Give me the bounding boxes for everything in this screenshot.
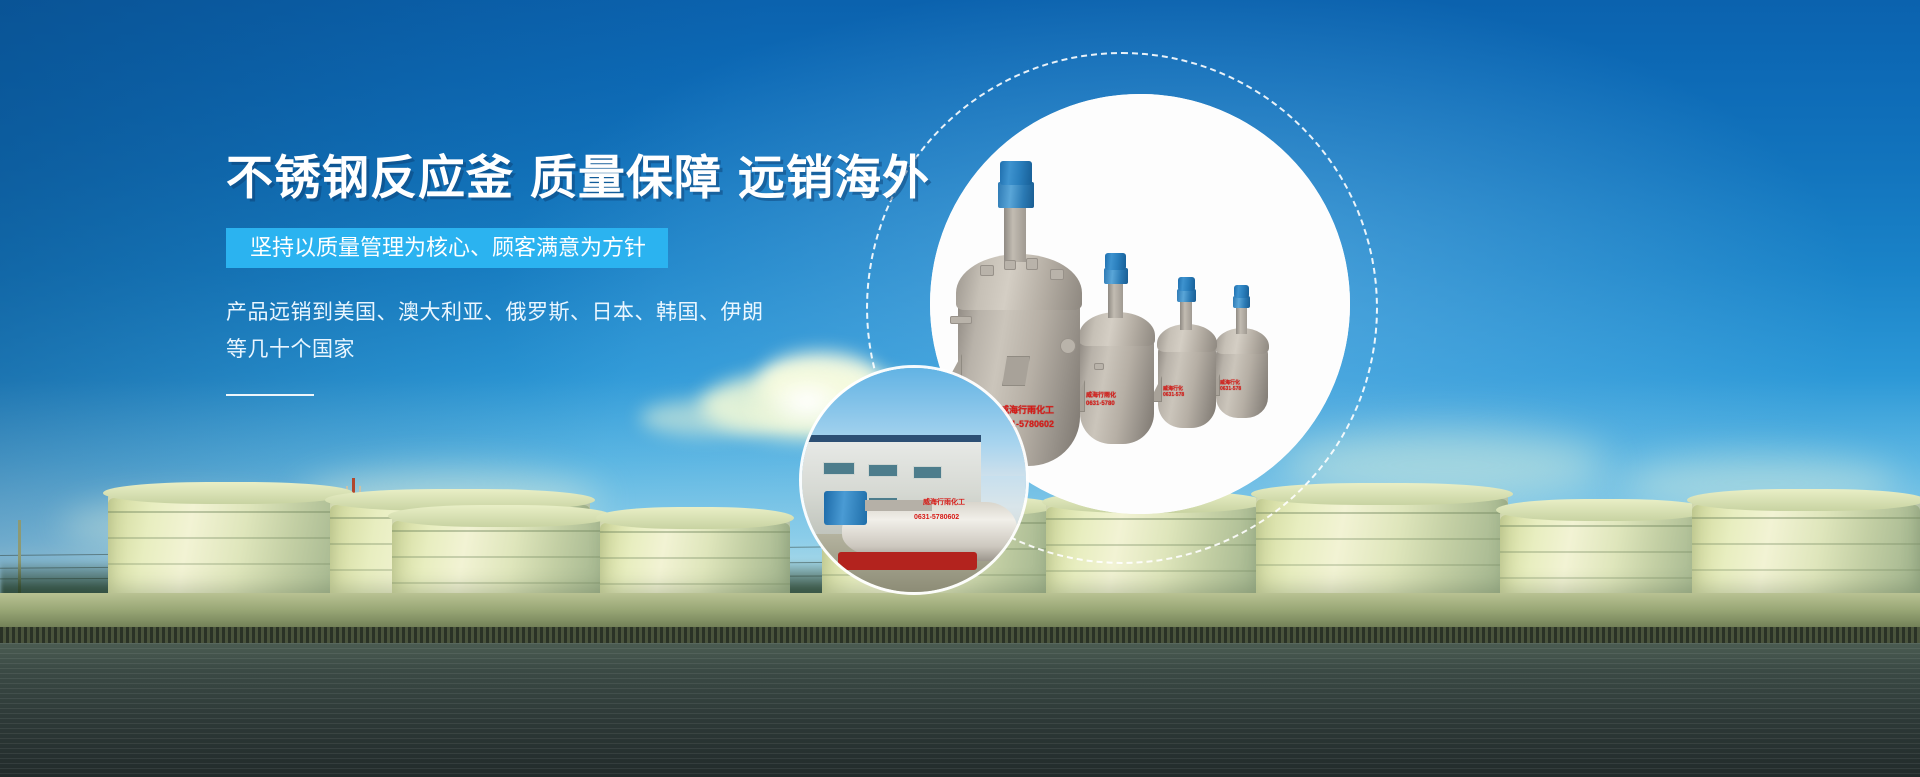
- hero-banner: 威海行化0631-578 威海行化0631-578: [0, 0, 1920, 777]
- building-window: [913, 466, 941, 479]
- storage-tank: [600, 517, 790, 597]
- quay-wall: [0, 593, 1920, 629]
- reactor-manhole: [1060, 338, 1076, 354]
- description-line-1: 产品远销到美国、澳大利亚、俄罗斯、日本、韩国、伊朗: [226, 294, 1006, 331]
- harbor-water: [0, 643, 1920, 777]
- truck-chassis: [838, 552, 977, 570]
- building-window: [868, 464, 898, 477]
- reactor-body: [1080, 334, 1154, 444]
- storage-tank: [1500, 509, 1706, 597]
- subtitle-highlight-bar: 坚持以质量管理为核心、顾客满意为方针: [226, 228, 668, 268]
- description-text: 产品远销到美国、澳大利亚、俄罗斯、日本、韩国、伊朗 等几十个国家: [226, 294, 1006, 368]
- factory-photo-circle[interactable]: 威海行雨化工 0631-5780602: [802, 368, 1026, 592]
- factory-watermark-phone: 0631-5780602: [914, 513, 959, 522]
- reactor-unit: 威海行雨化0631-5780: [1080, 256, 1154, 444]
- headline-segment-2: 质量保障: [530, 151, 722, 204]
- reactor-unit: 威海行化0631-578: [1216, 286, 1268, 418]
- building-window: [823, 462, 855, 475]
- reactor-nozzle: [1094, 363, 1104, 370]
- product-watermark: 威海行化0631-578: [1163, 386, 1184, 399]
- tanker-motor: [824, 491, 867, 525]
- reactor-neck: [1004, 200, 1026, 262]
- product-watermark: 威海行雨化0631-5780: [1086, 393, 1116, 408]
- reactor-nozzle: [1050, 269, 1064, 280]
- reactor-gearbox: [1104, 268, 1128, 284]
- factory-watermark-company: 威海行雨化工: [923, 498, 965, 507]
- reactor-motor: [1178, 277, 1195, 291]
- reactor-unit: 威海行化0631-578: [1158, 278, 1216, 428]
- reactor-neck: [1108, 280, 1123, 318]
- headline-segment-3: 远销海外: [738, 151, 930, 204]
- page-title: 不锈钢反应釜质量保障远销海外: [226, 150, 1006, 206]
- headline-segment-1: 不锈钢反应釜: [226, 151, 514, 204]
- storage-tank: [108, 492, 348, 597]
- storage-tank: [392, 515, 608, 597]
- product-watermark: 威海行化0631-578: [1220, 380, 1241, 393]
- reactor-neck: [1236, 306, 1247, 334]
- divider-rule: [226, 394, 314, 396]
- description-line-2: 等几十个国家: [226, 331, 1006, 368]
- reactor-neck: [1180, 300, 1192, 330]
- reactor-motor: [1105, 253, 1126, 270]
- storage-tank: [1692, 499, 1920, 597]
- tanker-shaft: [865, 500, 932, 511]
- reactor-nozzle: [1026, 258, 1038, 270]
- reactor-motor: [1234, 285, 1249, 298]
- hero-copy-block: 不锈钢反应釜质量保障远销海外 坚持以质量管理为核心、顾客满意为方针 产品远销到美…: [226, 150, 1006, 396]
